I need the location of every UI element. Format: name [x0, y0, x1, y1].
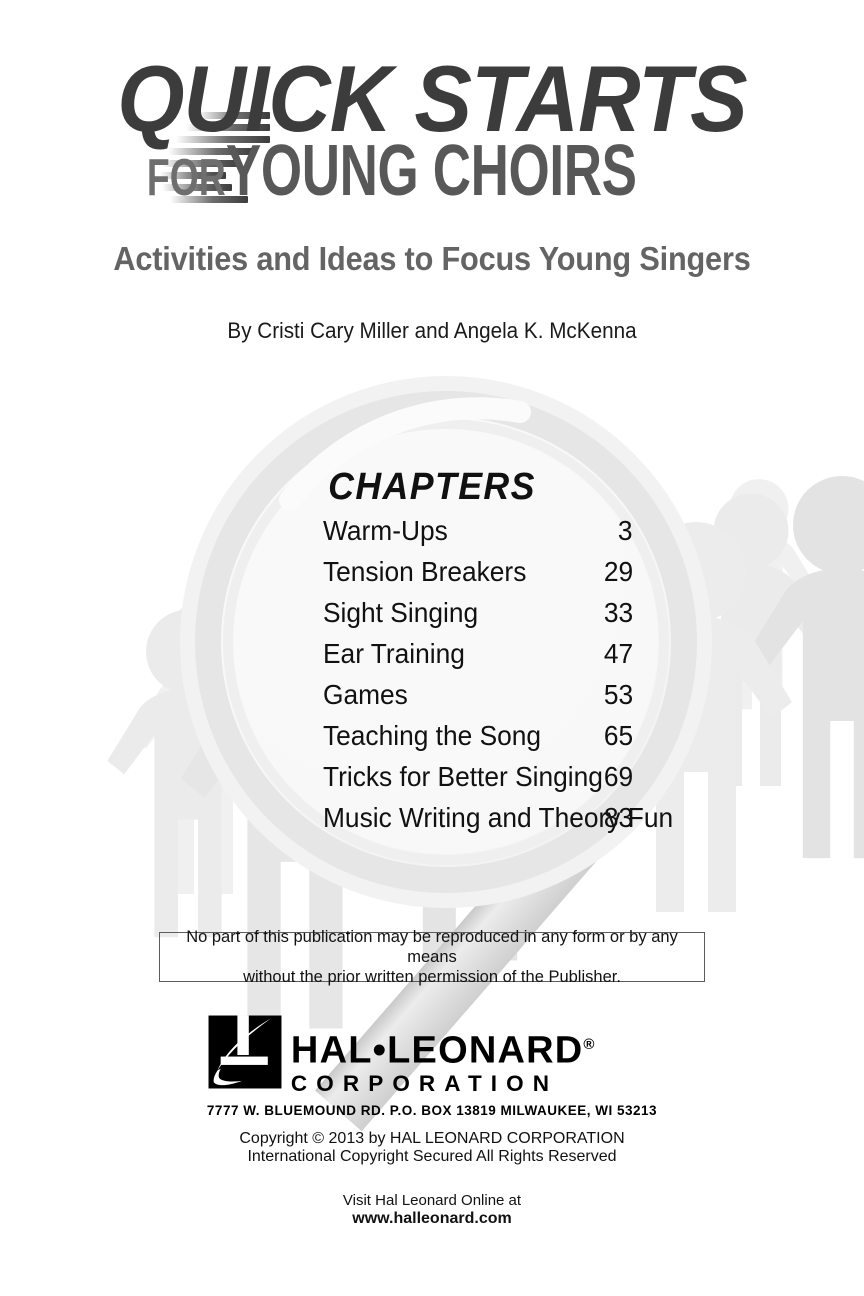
chapter-row[interactable]: Tension Breakers 29: [323, 556, 633, 597]
chapter-title: Sight Singing: [323, 597, 478, 629]
title-block: QUICK STARTS FORYOUNG CHOIRS: [0, 52, 864, 212]
chapter-page-number: 65: [604, 720, 633, 752]
chapter-title: Tricks for Better Singing: [323, 761, 603, 793]
chapter-row[interactable]: Warm-Ups 3: [323, 515, 633, 556]
chapter-page-number: 69: [604, 761, 633, 793]
chapters-heading: CHAPTERS: [26, 466, 838, 509]
chapter-page-number: 83: [604, 802, 633, 834]
notice-line-1: No part of this publication may be repro…: [186, 928, 678, 966]
chapter-row[interactable]: Tricks for Better Singing 69: [323, 761, 633, 802]
hal-leonard-h-swoosh-icon: [207, 1014, 283, 1090]
registered-trademark-icon: ®: [583, 1036, 594, 1053]
chapter-row[interactable]: Ear Training 47: [323, 638, 633, 679]
chapter-list: Warm-Ups 3 Tension Breakers 29 Sight Sin…: [323, 515, 633, 843]
chapter-row[interactable]: Music Writing and Theory Fun 83: [323, 802, 633, 843]
publisher-address: 7777 W. BLUEMOUND RD. P.O. BOX 13819 MIL…: [207, 1103, 657, 1118]
publisher-website-link[interactable]: www.halleonard.com: [0, 1210, 864, 1228]
notice-line-2: without the prior written permission of …: [243, 968, 621, 986]
copyright-block: Copyright © 2013 by HAL LEONARD CORPORAT…: [0, 1130, 864, 1166]
chapter-page-number: 47: [604, 638, 633, 670]
page-title-young-choirs: YOUNG CHOIRS: [226, 140, 637, 202]
chapter-page-number: 33: [604, 597, 633, 629]
chapter-title: Teaching the Song: [323, 720, 541, 752]
copyright-line-1: Copyright © 2013 by HAL LEONARD CORPORAT…: [0, 1130, 864, 1148]
page-subtitle: Activities and Ideas to Focus Young Sing…: [30, 240, 834, 278]
copyright-line-2: International Copyright Secured All Righ…: [0, 1148, 864, 1166]
chapter-row[interactable]: Sight Singing 33: [323, 597, 633, 638]
chapter-page-number: 3: [618, 515, 633, 547]
chapter-row[interactable]: Games 53: [323, 679, 633, 720]
publisher-name-text: HAL•LEONARD: [291, 1030, 584, 1072]
page-title-line2: FORYOUNG CHOIRS: [35, 140, 830, 209]
book-title-page: QUICK STARTS FORYOUNG CHOIRS Activities …: [0, 0, 864, 1296]
page-title-for: FOR: [147, 147, 226, 209]
chapter-title: Warm-Ups: [323, 515, 448, 547]
copyright-notice-text: No part of this publication may be repro…: [160, 927, 704, 987]
copyright-notice-box: No part of this publication may be repro…: [159, 932, 705, 982]
publisher-name: HAL•LEONARD®: [291, 1026, 595, 1070]
chapter-title: Games: [323, 679, 408, 711]
chapter-title: Tension Breakers: [323, 556, 526, 588]
publisher-logo-block: HAL•LEONARD® CORPORATION 7777 W. BLUEMOU…: [0, 1014, 864, 1120]
visit-online-block: Visit Hal Leonard Online at www.halleona…: [0, 1192, 864, 1228]
chapter-page-number: 53: [604, 679, 633, 711]
chapter-row[interactable]: Teaching the Song 65: [323, 720, 633, 761]
publisher-name-sub: CORPORATION: [291, 1071, 595, 1097]
visit-online-label: Visit Hal Leonard Online at: [0, 1192, 864, 1210]
author-line: By Cristi Cary Miller and Angela K. McKe…: [26, 318, 838, 344]
chapter-page-number: 29: [604, 556, 633, 588]
chapter-title: Ear Training: [323, 638, 465, 670]
